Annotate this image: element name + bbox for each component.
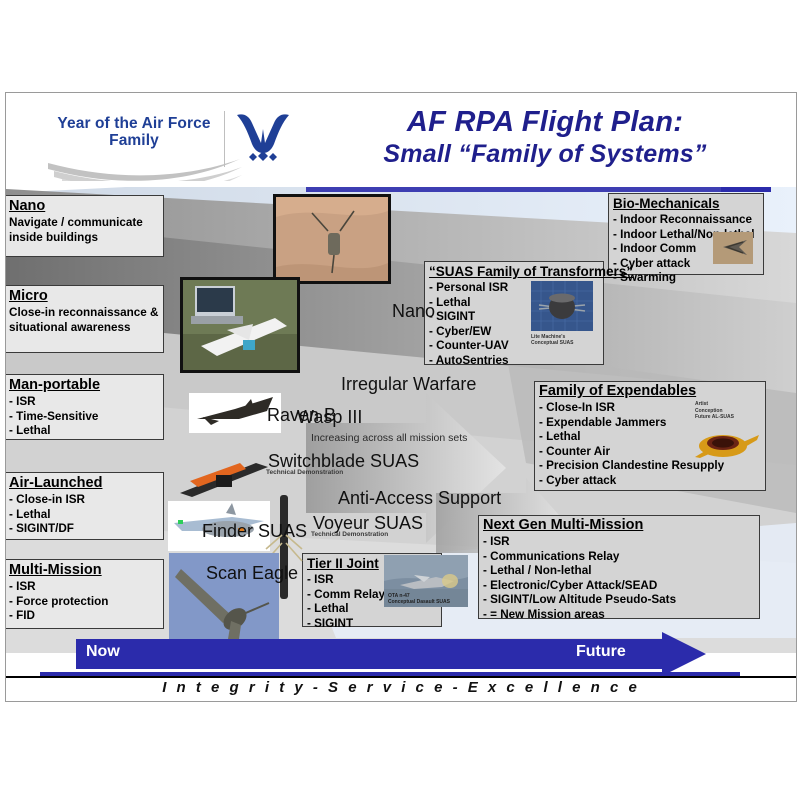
system-sublabel-switchblade: Technical Demonstration [266,469,343,476]
footer-divider [6,676,796,678]
timeline-label-future: Future [576,643,626,661]
list-item: ISR [9,395,161,410]
list-item: Force protection [9,595,161,610]
air-force-wing-icon [234,111,292,163]
mission-box-next-gen-multi-mission[interactable]: Next Gen Multi-Mission ISR Communication… [478,515,760,619]
footer-motto: I n t e g r i t y - S e r v i c e - E x … [6,679,796,696]
list-item: Indoor Reconnaissance [613,213,762,228]
presentation-slide: Year of the Air Force Family AF RPA Flig… [5,92,797,702]
timeline-label-now: Now [86,643,120,661]
growth-note: Increasing across all mission sets [311,432,467,444]
photo-bio-mechanical-insect [713,232,753,264]
capability-list: ISR Force protection FID [6,580,161,624]
photo-wasp-iii [180,277,300,373]
mission-title: Bio-Mechanicals [613,195,762,212]
photo-conceptual-suas [531,281,593,331]
photo-caption: Lite Machine's Conceptual SUAS [531,334,574,346]
list-item: ISR [483,535,758,550]
photo-switchblade-suas [176,455,272,501]
mission-title: Family of Expendables [539,383,764,400]
list-item: Time-Sensitive [9,410,161,425]
list-item: SIGINT [307,617,440,632]
list-item: Swarming [613,271,762,286]
brand-line-1: Year of the Air Force [57,115,210,132]
mission-label-anti-access-support: Anti-Access Support [338,488,501,509]
system-label-finder: Finder SUAS [202,521,307,542]
mission-title: “SUAS Family of Transformers” [429,263,602,280]
capability-title: Air-Launched [9,475,161,492]
list-item: Cyber attack [539,474,764,489]
capability-box-man-portable[interactable]: Man-portable ISR Time-Sensitive Lethal [5,374,164,440]
capability-box-micro[interactable]: Micro Close-in reconnaissance & situatio… [5,285,164,353]
capability-box-multi-mission[interactable]: Multi-Mission ISR Force protection FID [5,559,164,629]
system-label-nano: Nano [392,301,435,322]
capability-title: Man-portable [9,377,161,394]
system-sublabel-voyeur: Technical Demonstration [311,531,388,538]
list-item: SIGINT/DF [9,522,161,537]
year-of-af-family-brand: Year of the Air Force Family [34,115,264,181]
brand-line-2: Family [34,132,234,149]
photo-tier-ii-joint-uav: OTA n-47 Conceptual Dasault SUAS [384,555,468,607]
mission-title: Next Gen Multi-Mission [483,517,758,534]
title-line-1: AF RPA Flight Plan: [306,105,784,139]
title-line-2: Small “Family of Systems” [306,139,784,170]
header-divider [224,111,225,167]
swoosh-icon [44,155,244,181]
mission-box-bio-mechanicals[interactable]: Bio-Mechanicals Indoor Reconnaissance In… [608,193,764,275]
capability-title: Micro [9,288,161,305]
capability-body: Close-in reconnaissance & situational aw… [9,306,161,335]
list-item: Electronic/Cyber Attack/SEAD [483,579,758,594]
system-label-raven-b: Raven B [267,405,336,426]
list-item: Lethal / Non-lethal [483,564,758,579]
capability-box-air-launched[interactable]: Air-Launched Close-in ISR Lethal SIGINT/… [5,472,164,540]
photo-caption: Artist Conception Future AL-SUAS [695,401,734,421]
capability-title: Nano [9,198,161,215]
capability-list: Close-in ISR Lethal SIGINT/DF [6,493,161,537]
photo-caption: OTA n-47 Conceptual Dasault SUAS [388,593,450,605]
mission-box-suas-transformers[interactable]: “SUAS Family of Transformers” Personal I… [424,261,604,365]
list-item: Close-in ISR [9,493,161,508]
list-item: Counter-UAV [429,339,602,354]
mission-list: ISR Communications Relay Lethal / Non-le… [480,535,758,623]
slide-header: Year of the Air Force Family AF RPA Flig… [6,93,796,187]
page-title: AF RPA Flight Plan: Small “Family of Sys… [306,105,784,170]
timeline-arrow: Now Future [76,639,736,669]
capability-box-nano[interactable]: Nano Navigate / communicate inside build… [5,195,164,257]
list-item: Lethal [9,508,161,523]
photo-al-suas-concept [691,426,761,462]
brand-text: Year of the Air Force Family [34,115,234,149]
list-item: FID [9,609,161,624]
list-item: Communications Relay [483,550,758,565]
list-item: SIGINT/Low Altitude Pseudo-Sats [483,593,758,608]
list-item: = New Mission areas [483,608,758,623]
system-label-scan-eagle: Scan Eagle [206,563,298,584]
capability-body: Navigate / communicate inside buildings [9,216,161,245]
list-item: ISR [9,580,161,595]
list-item: Lethal [9,424,161,439]
timeline-arrowhead-icon [662,632,706,676]
photo-nano-uav [273,194,391,284]
capability-list: ISR Time-Sensitive Lethal [6,395,161,439]
list-item: AutoSentries [429,354,602,369]
mission-box-family-of-expendables[interactable]: Family of Expendables Close-In ISR Expen… [534,381,766,491]
mission-label-irregular-warfare: Irregular Warfare [341,374,476,395]
capability-title: Multi-Mission [9,562,161,579]
